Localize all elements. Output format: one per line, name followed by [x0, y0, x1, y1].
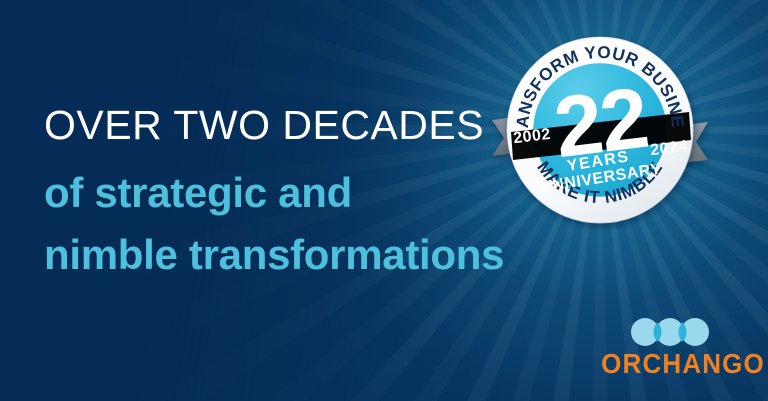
logo-wordmark: ORCHANGO	[601, 350, 739, 378]
subhead-line-1: of strategic and	[44, 162, 474, 224]
orchango-logo[interactable]: ORCHANGO	[596, 318, 744, 380]
logo-circles-mark	[628, 318, 712, 346]
anniversary-banner: OVER TWO DECADES of strategic and nimble…	[0, 0, 768, 401]
subhead-line-2: nimble transformations	[44, 224, 474, 286]
page-title: OVER TWO DECADES	[44, 100, 474, 150]
anniversary-badge: TRANSFORM YOUR BUSINESS MAKE IT NIMBLE 2…	[506, 36, 694, 224]
headline-block: OVER TWO DECADES of strategic and nimble…	[44, 100, 474, 286]
